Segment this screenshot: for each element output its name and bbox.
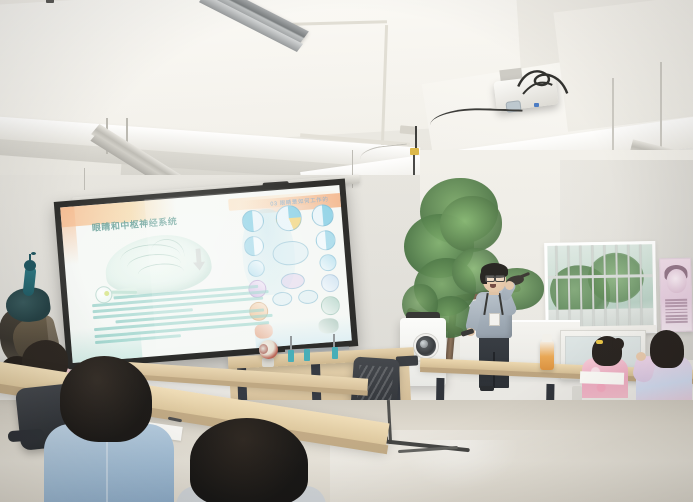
light-hanger-rod-3 xyxy=(660,62,662,154)
wall-poster xyxy=(659,258,693,333)
projector-indicator-light xyxy=(534,103,539,107)
field-circle-7 xyxy=(319,254,337,272)
optical-lens-holder-2[interactable] xyxy=(304,349,310,361)
device-on-cabinet xyxy=(46,0,54,3)
student-right-pastel-hair xyxy=(650,330,684,368)
pathway-node-right xyxy=(298,289,319,305)
field-circle-3 xyxy=(311,204,335,228)
screen-hanger-left xyxy=(84,168,85,190)
field-circle-9 xyxy=(320,273,339,292)
cable-connector xyxy=(410,148,419,155)
peacock-crest xyxy=(31,252,36,255)
presenter-right-hand xyxy=(505,281,514,290)
hair-clip xyxy=(596,340,603,344)
field-shape-right xyxy=(318,318,339,335)
student-right-pastel-hand xyxy=(636,352,646,361)
eye-model-stand xyxy=(262,358,274,367)
glasses-bridge xyxy=(493,277,496,278)
conduit-junction-box xyxy=(400,125,417,134)
presenter-mouth xyxy=(490,284,496,288)
ceiling-panel-upper-right xyxy=(553,0,693,132)
glasses-lens-right xyxy=(495,275,505,282)
paper-on-right-table xyxy=(580,371,624,385)
eye-model-iris xyxy=(259,344,268,354)
projector-cables-icon xyxy=(514,63,569,102)
air-purifier-vent-center xyxy=(420,340,428,348)
student-foreground-denim-seam xyxy=(106,432,108,502)
peacock-crest-stem xyxy=(29,254,31,262)
projection-screen-surface[interactable]: 眼睛和中枢神经系统 03 眼睛是如何工作的 xyxy=(60,185,352,363)
student-right-floral-bun xyxy=(612,338,624,350)
thermos-bottle[interactable] xyxy=(540,340,554,370)
optical-lens-holder-3[interactable] xyxy=(332,347,338,359)
field-circle-5 xyxy=(315,230,337,252)
optical-bench-rod-right xyxy=(333,334,335,348)
id-badge xyxy=(489,313,500,326)
optical-bench-rod-left xyxy=(290,336,292,350)
pathway-node-mid xyxy=(280,272,305,290)
field-circle-11 xyxy=(320,295,340,315)
optical-lens-holder-1[interactable] xyxy=(288,350,294,362)
thermos-cap xyxy=(542,334,552,342)
pathway-node-top xyxy=(272,240,310,267)
poster-text-lines xyxy=(665,299,688,325)
classroom-photo-scene: 眼睛和中枢神经系统 03 眼睛是如何工作的 xyxy=(0,0,693,502)
student-foreground-denim-hair xyxy=(60,356,152,442)
tree-foliage-upper-right xyxy=(440,196,502,252)
poster-portrait-face xyxy=(666,269,687,294)
presenter-shoe xyxy=(480,386,494,391)
light-hanger-rod-4 xyxy=(612,78,614,156)
